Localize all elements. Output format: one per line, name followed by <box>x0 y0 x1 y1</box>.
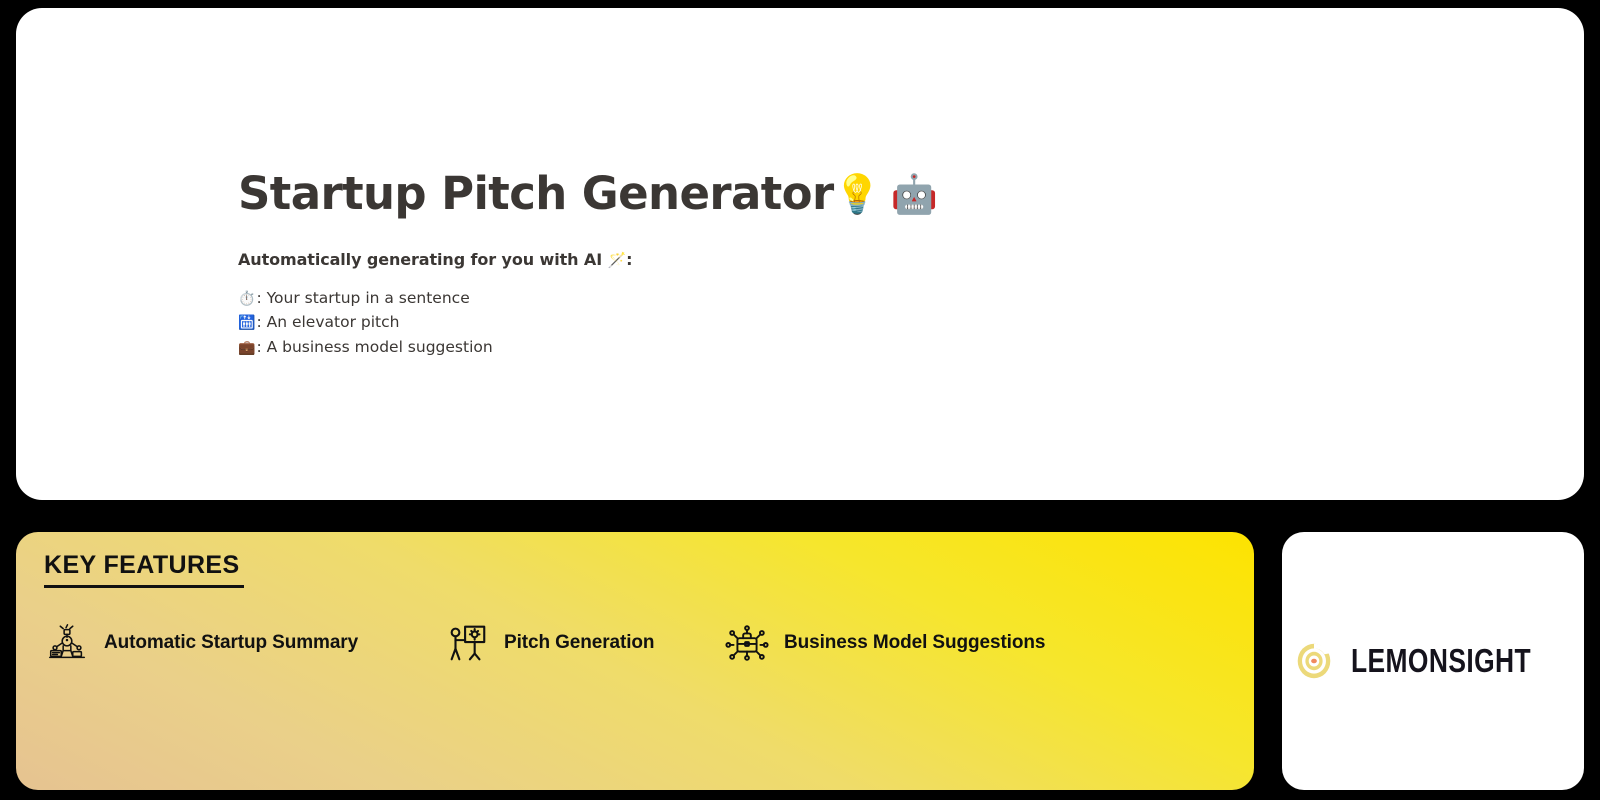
feature-label: Pitch Generation <box>504 632 654 654</box>
list-item: 🛗: An elevator pitch <box>238 311 1138 336</box>
feature-label: Business Model Suggestions <box>784 632 1045 654</box>
elevator-icon: 🛗 <box>238 315 255 331</box>
page-title: Startup Pitch Generator💡🤖 <box>238 168 1138 220</box>
lemon-spiral-icon <box>1291 638 1337 684</box>
hero-subtitle-text: Automatically generating for you with AI <box>238 250 602 269</box>
list-item: ⏱️: Your startup in a sentence <box>238 287 1138 312</box>
feature-item-automatic-startup-summary: Automatic Startup Summary <box>44 620 444 666</box>
hero-subtitle: Automatically generating for you with AI… <box>238 250 1138 269</box>
feature-item-business-model-suggestions: Business Model Suggestions <box>724 620 1144 666</box>
magic-wand-icon: 🪄 <box>608 251 627 269</box>
lightbulb-icon: 💡 <box>834 172 881 216</box>
key-features-row: Automatic Startup Summary <box>44 620 1224 666</box>
brand-wordmark: LEMONSIGHT <box>1351 642 1531 680</box>
feature-item-pitch-generation: Pitch Generation <box>444 620 724 666</box>
feature-label: Automatic Startup Summary <box>104 632 358 654</box>
list-item-label: Your startup in a sentence <box>267 289 470 307</box>
hero-content: Startup Pitch Generator💡🤖 Automatically … <box>238 168 1138 360</box>
key-features-heading-group: KEY FEATURES <box>44 550 244 588</box>
hero-feature-list: ⏱️: Your startup in a sentence 🛗: An ele… <box>238 287 1138 361</box>
list-item-label: A business model suggestion <box>267 338 493 356</box>
list-item-separator: : <box>256 313 261 331</box>
hero-subtitle-colon: : <box>626 250 632 269</box>
screenshot-stage: Startup Pitch Generator💡🤖 Automatically … <box>0 0 1600 800</box>
brand-logo-card: LEMONSIGHT <box>1282 532 1584 790</box>
list-item-separator: : <box>256 338 261 356</box>
presenter-board-idea-icon <box>444 620 490 666</box>
heading-underline <box>44 585 244 588</box>
stopwatch-icon: ⏱️ <box>238 291 255 307</box>
list-item: 💼: A business model suggestion <box>238 336 1138 361</box>
list-item-label: An elevator pitch <box>267 313 400 331</box>
key-features-heading: KEY FEATURES <box>44 550 244 580</box>
robot-icon: 🤖 <box>891 172 938 216</box>
list-item-separator: : <box>256 289 261 307</box>
hero-card: Startup Pitch Generator💡🤖 Automatically … <box>16 8 1584 500</box>
brand-logo: LEMONSIGHT <box>1291 638 1576 684</box>
robot-machine-icon <box>44 620 90 666</box>
briefcase-network-icon <box>724 620 770 666</box>
key-features-panel: KEY FEATURES <box>16 532 1254 790</box>
briefcase-icon: 💼 <box>238 340 255 356</box>
page-title-text: Startup Pitch Generator <box>238 167 834 220</box>
